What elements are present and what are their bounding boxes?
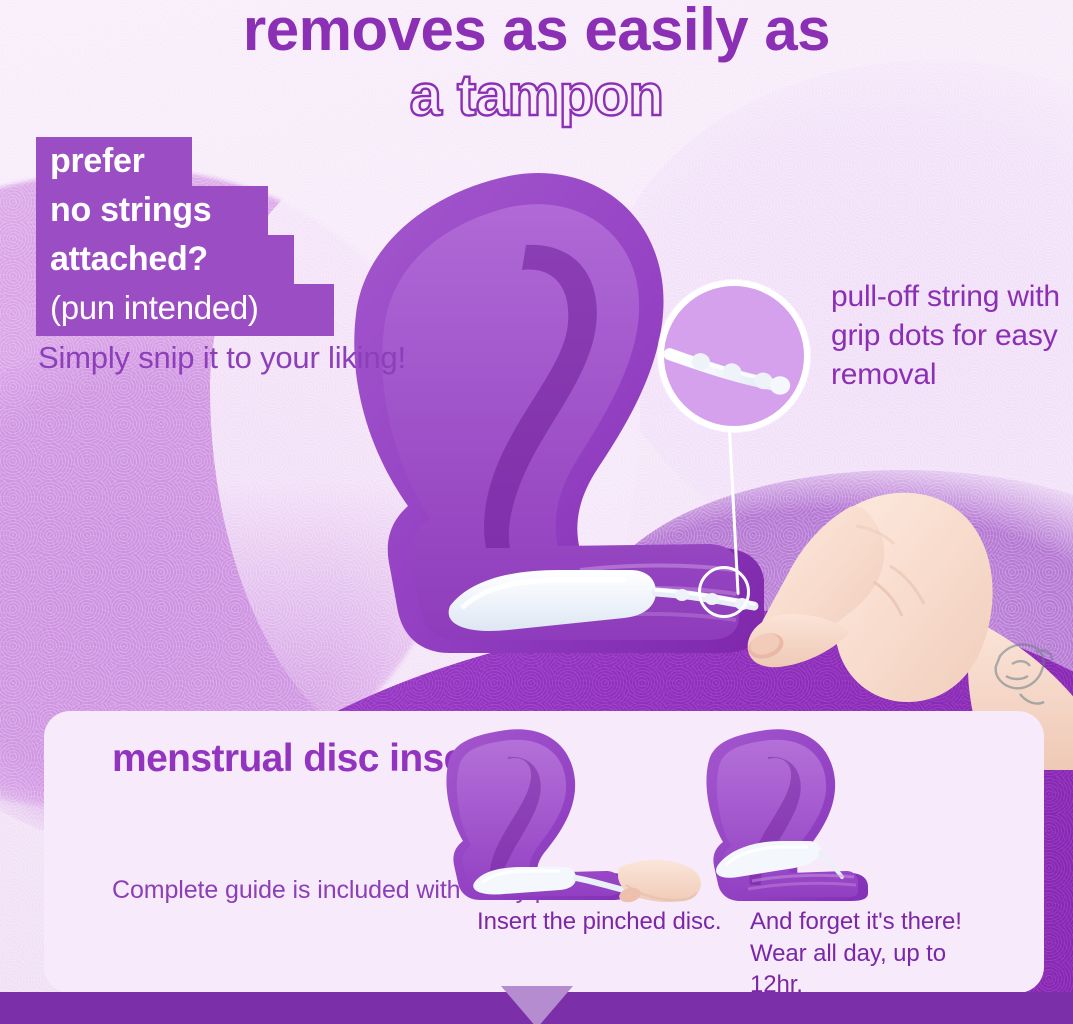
infographic-page: removes as easily as a tampon prefer no … bbox=[0, 0, 1073, 1024]
headline-line-2-outlined: a tampon bbox=[0, 64, 1073, 129]
prefer-no-strings-block: prefer no strings attached? (pun intende… bbox=[36, 137, 334, 336]
snip-subtext: Simply snip it to your liking! bbox=[38, 337, 406, 378]
highlight-line-4-pun: (pun intended) bbox=[36, 284, 334, 337]
step-1: Insert the pinched disc. bbox=[444, 719, 724, 938]
pull-off-string-callout: pull-off string with grip dots for easy … bbox=[831, 277, 1061, 394]
magnifier-circle-string-detail bbox=[658, 280, 810, 432]
highlight-line-3: attached? bbox=[36, 235, 294, 284]
headline-line-1: removes as easily as bbox=[0, 0, 1073, 62]
highlight-line-2: no strings bbox=[36, 186, 268, 235]
insertion-guide-card: menstrual disc insertion Complete guide … bbox=[44, 711, 1044, 993]
step-1-caption: Insert the pinched disc. bbox=[477, 906, 724, 938]
scroll-down-arrow-icon bbox=[501, 986, 573, 1024]
step-2-caption: And forget it's there! Wear all day, up … bbox=[750, 906, 984, 1001]
step-2: And forget it's there! Wear all day, up … bbox=[704, 719, 984, 1001]
highlight-line-1: prefer bbox=[36, 137, 192, 186]
step-1-illustration bbox=[444, 719, 704, 904]
magnifier-target-ring bbox=[698, 566, 750, 618]
page-title: removes as easily as a tampon bbox=[0, 0, 1073, 129]
step-2-illustration bbox=[704, 719, 964, 904]
